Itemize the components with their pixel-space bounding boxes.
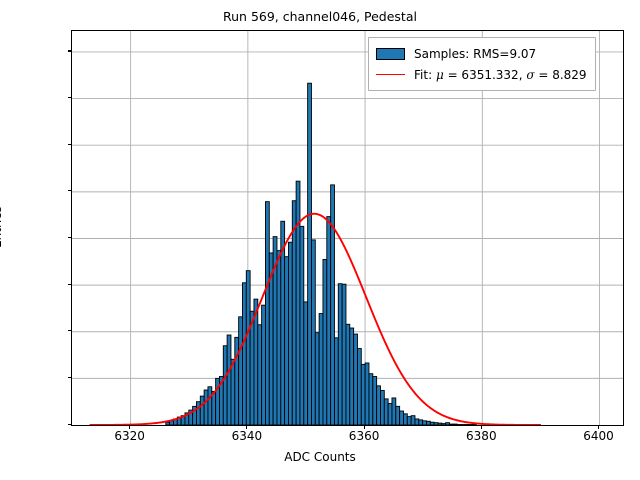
legend-entry-samples: Samples: RMS=9.07 bbox=[376, 43, 587, 64]
legend-box[interactable]: Samples: RMS=9.07 Fit: μ = 6351.332, σ =… bbox=[368, 37, 596, 91]
histogram-bar bbox=[361, 364, 365, 425]
histogram-bar bbox=[415, 419, 419, 425]
histogram-bar bbox=[277, 251, 281, 425]
histogram-bar bbox=[373, 377, 377, 425]
histogram-bar bbox=[438, 423, 442, 425]
histogram-bar bbox=[166, 422, 170, 425]
histogram-bar bbox=[327, 217, 331, 425]
histogram-bar bbox=[400, 411, 404, 425]
histogram-bar bbox=[369, 374, 373, 425]
histogram-bar bbox=[350, 328, 354, 425]
histogram-bar bbox=[304, 302, 308, 425]
histogram-bar bbox=[423, 421, 427, 425]
histogram-bar bbox=[227, 335, 231, 425]
histogram-bar bbox=[265, 202, 269, 425]
histogram-bar bbox=[430, 422, 434, 425]
histogram-bar bbox=[242, 283, 246, 425]
legend-entry-fit: Fit: μ = 6351.332, σ = 8.829 bbox=[376, 64, 587, 85]
histogram-bar bbox=[449, 424, 453, 425]
histogram-bar bbox=[354, 334, 358, 425]
histogram-bar bbox=[288, 242, 292, 425]
legend-fit-sigma-value: = 8.829 bbox=[535, 68, 587, 82]
histogram-bar bbox=[419, 420, 423, 425]
histogram-bar bbox=[315, 333, 319, 425]
histogram-bar bbox=[338, 284, 342, 425]
histogram-bars bbox=[166, 83, 477, 425]
histogram-bar bbox=[200, 396, 204, 425]
histogram-bar bbox=[388, 404, 392, 425]
histogram-bar bbox=[407, 417, 411, 425]
histogram-bar bbox=[403, 414, 407, 425]
histogram-bar bbox=[311, 240, 315, 425]
histogram-bar bbox=[246, 271, 250, 425]
x-tick-label: 6340 bbox=[232, 429, 263, 443]
histogram-bar bbox=[392, 398, 396, 425]
legend-fit-mu-symbol: μ bbox=[436, 68, 444, 82]
histogram-bar bbox=[411, 416, 415, 425]
histogram-bar bbox=[212, 391, 216, 425]
x-tick-label: 6320 bbox=[114, 429, 145, 443]
histogram-bar bbox=[285, 257, 289, 425]
legend-swatch-samples-icon bbox=[376, 48, 405, 60]
x-axis-label: ADC Counts bbox=[0, 450, 640, 464]
histogram-bar bbox=[235, 337, 239, 425]
histogram-bar bbox=[250, 311, 254, 425]
histogram-bar bbox=[446, 423, 450, 425]
x-tick-label: 6380 bbox=[466, 429, 497, 443]
histogram-bar bbox=[380, 390, 384, 425]
histogram-bar bbox=[426, 421, 430, 425]
histogram-bar bbox=[365, 363, 369, 425]
histogram-bar bbox=[334, 338, 338, 425]
histogram-bar bbox=[292, 201, 296, 425]
histogram-bar bbox=[346, 324, 350, 425]
histogram-bar bbox=[323, 259, 327, 425]
y-axis-label: Entries bbox=[0, 206, 4, 248]
histogram-bar bbox=[319, 314, 323, 425]
histogram-bar bbox=[196, 402, 200, 425]
histogram-bar bbox=[357, 349, 361, 425]
histogram-bar bbox=[300, 226, 304, 425]
histogram-bar bbox=[239, 317, 243, 425]
histogram-bar bbox=[262, 305, 266, 425]
histogram-bar bbox=[258, 325, 262, 425]
legend-fit-prefix: Fit: bbox=[414, 68, 436, 82]
histogram-bar bbox=[208, 387, 212, 425]
legend-fit-sigma-symbol: σ bbox=[526, 68, 534, 82]
x-tick-label: 6400 bbox=[583, 429, 614, 443]
histogram-bar bbox=[331, 185, 335, 425]
histogram-bar bbox=[453, 424, 457, 425]
figure-canvas: Run 569, channel046, Pedestal 0100200300… bbox=[0, 0, 640, 480]
histogram-bar bbox=[204, 390, 208, 425]
legend-label-samples: Samples: RMS=9.07 bbox=[414, 47, 536, 61]
chart-title: Run 569, channel046, Pedestal bbox=[0, 9, 640, 24]
histogram-bar bbox=[377, 386, 381, 425]
histogram-bar bbox=[396, 406, 400, 425]
histogram-bar bbox=[231, 359, 235, 425]
legend-label-fit: Fit: μ = 6351.332, σ = 8.829 bbox=[414, 68, 587, 82]
x-tick-label: 6360 bbox=[349, 429, 380, 443]
legend-swatch-fit-icon bbox=[376, 69, 405, 81]
histogram-bar bbox=[296, 181, 300, 425]
histogram-bar bbox=[384, 399, 388, 425]
histogram-bar bbox=[434, 423, 438, 425]
histogram-bar bbox=[308, 83, 312, 425]
histogram-bar bbox=[223, 346, 227, 425]
legend-fit-mu-value: = 6351.332, bbox=[444, 68, 527, 82]
histogram-bar bbox=[442, 424, 446, 425]
histogram-bar bbox=[342, 284, 346, 425]
